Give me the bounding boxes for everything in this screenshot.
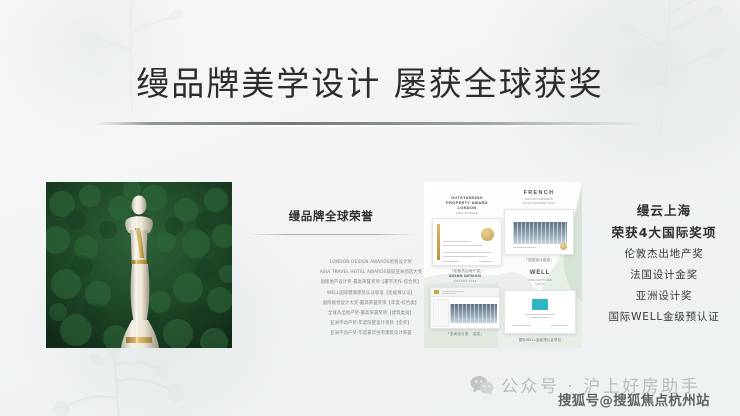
certificate-image xyxy=(430,287,500,329)
award-item: 国际WELL金级预认证 xyxy=(588,307,740,328)
wechat-icon xyxy=(470,375,494,395)
award-item: 伦敦杰出地产奖 xyxy=(588,244,740,265)
certificate-name-line1: FRENCH xyxy=(504,190,574,197)
title-divider-rule xyxy=(96,122,644,125)
certificate-title: ASIAN DESIGN AWARDS 2023 xyxy=(430,274,500,284)
award-item: 亚洲设计奖 xyxy=(588,286,740,307)
project-name: 缦云上海 xyxy=(588,200,740,222)
certificate-name-line1: WELL xyxy=(504,270,576,278)
flower-watermark-bottomleft xyxy=(34,336,214,416)
certificate-title: OUTSTANDING PROPERTY AWARD LONDON 2023 W… xyxy=(432,196,502,215)
certificate-name-line2: AWARDS 2023 xyxy=(430,280,500,284)
source-watermark: 搜狐号@搜狐焦点杭州站 xyxy=(558,389,710,409)
certificate-image xyxy=(432,218,502,266)
certificate-asian-design: ASIAN DESIGN AWARDS 2023 「亚洲设计奖 · 金奖」 xyxy=(430,274,500,337)
honors-heading: 缦品牌全球荣誉 xyxy=(240,208,422,224)
page-title-wrap: 缦品牌美学设计 屡获全球获奖 xyxy=(0,66,740,103)
awards-summary-column: 缦云上海 荣获4大国际奖项 伦敦杰出地产奖 法国设计金奖 亚洲设计奖 国际WEL… xyxy=(588,200,740,328)
honors-panel: 缦品牌全球荣誉 LONDON DESIGN AWARDS伦敦设计奖 ASIA T… xyxy=(240,182,422,348)
certificate-image xyxy=(504,290,576,334)
certificate-name-line3: LONDON xyxy=(432,206,502,211)
certificate-well: WELL PRECERTIFIED GOLD 国际WELL金级预认证项目 xyxy=(504,270,576,342)
award-seal-icon xyxy=(481,228,494,241)
certificate-caption: 「亚洲设计奖 · 金奖」 xyxy=(430,332,500,337)
certificate-caption: 「法国设计金奖」 xyxy=(504,258,574,263)
page-title: 缦品牌美学设计 屡获全球获奖 xyxy=(0,66,740,103)
certificate-caption: 国际WELL金级预认证项目 xyxy=(504,337,576,342)
slide-canvas: 缦品牌美学设计 屡获全球获奖 xyxy=(0,0,740,416)
certificate-title: FRENCH DESIGN AWARDS GOLD WINNER 2023 xyxy=(504,190,574,206)
golden-statue-forest-photo xyxy=(46,182,232,348)
certificate-london: OUTSTANDING PROPERTY AWARD LONDON 2023 W… xyxy=(432,196,502,274)
well-logo xyxy=(532,299,548,310)
gold-bar-decoration xyxy=(437,224,440,260)
certificate-image xyxy=(504,209,574,255)
certificate-french: FRENCH DESIGN AWARDS GOLD WINNER 2023 「法… xyxy=(504,190,574,263)
awards-count-headline: 荣获4大国际奖项 xyxy=(588,222,740,244)
certificate-subtitle: GOLD WINNER 2023 xyxy=(504,202,574,206)
honors-divider xyxy=(248,234,414,235)
award-item: 法国设计金奖 xyxy=(588,265,740,286)
certificates-collage: OUTSTANDING PROPERTY AWARD LONDON 2023 W… xyxy=(424,182,582,348)
golden-statue xyxy=(108,192,170,348)
certificate-subtitle: GOLD xyxy=(504,283,576,287)
certificate-title: WELL PRECERTIFIED GOLD xyxy=(504,270,576,287)
certificate-subtitle: 2023 WINNER xyxy=(432,212,502,216)
